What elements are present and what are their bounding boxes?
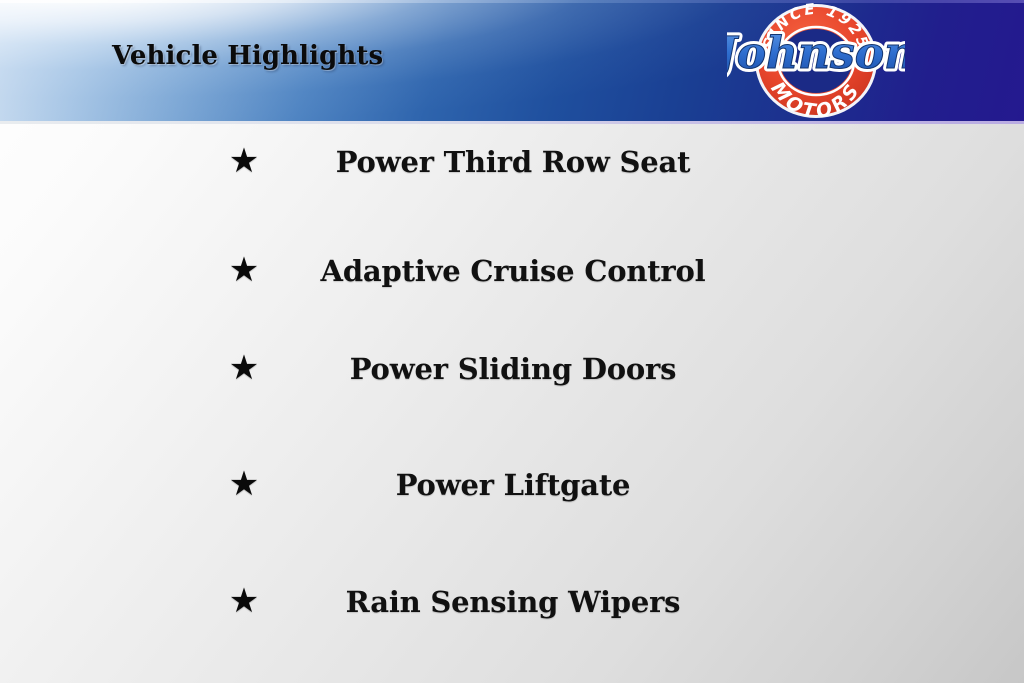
slide-canvas: Vehicle Highlights — [0, 0, 1024, 683]
star-bullet-icon: ★ — [228, 468, 260, 500]
highlight-label: Power Liftgate — [290, 463, 736, 507]
highlight-label: Rain Sensing Wipers — [290, 580, 736, 624]
star-bullet-icon: ★ — [228, 145, 260, 177]
highlight-label: Adaptive Cruise Control — [290, 249, 736, 293]
star-bullet-icon: ★ — [228, 585, 260, 617]
star-bullet-icon: ★ — [228, 352, 260, 384]
svg-text:Johnson: Johnson — [727, 28, 905, 79]
star-bullet-icon: ★ — [228, 254, 260, 286]
highlight-label: Power Third Row Seat — [290, 140, 736, 184]
johnson-motors-logo: SINCE 1925 MOTORS Johnson Johnson — [727, 2, 905, 120]
vehicle-highlights-list: ★ Power Third Row Seat ★ Adaptive Cruise… — [0, 121, 1024, 683]
logo-brand-script: Johnson Johnson — [727, 28, 905, 79]
highlight-label: Power Sliding Doors — [290, 347, 736, 391]
page-title: Vehicle Highlights — [112, 41, 383, 71]
